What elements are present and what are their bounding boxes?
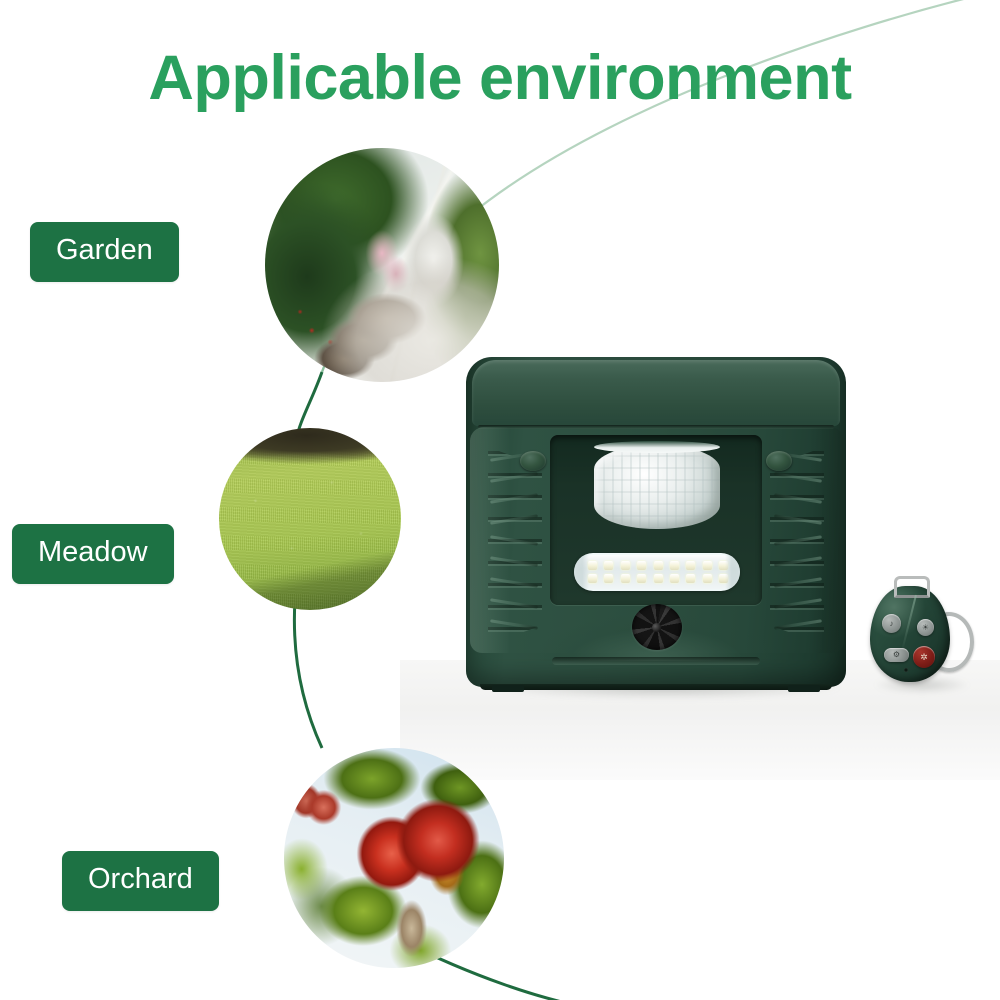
- led-strip-end-caps: [574, 553, 740, 591]
- led: [621, 574, 630, 583]
- environment-photo-orchard: [284, 748, 504, 968]
- chevron-ridge: [774, 619, 822, 629]
- led: [703, 561, 712, 570]
- device-lid-seam: [478, 425, 834, 429]
- led: [670, 574, 679, 583]
- chevron-ridge: [490, 535, 538, 545]
- remote-key-loop: [894, 576, 930, 598]
- chevron-ridge: [774, 514, 822, 524]
- chevron-ridges-right: [770, 449, 822, 639]
- corner-screw-boss-right: [766, 451, 792, 471]
- environment-label-orchard: Orchard: [62, 851, 219, 911]
- led: [604, 561, 613, 570]
- environment-label-meadow: Meadow: [12, 524, 174, 584]
- chevron-ridge: [774, 577, 822, 587]
- led: [588, 574, 597, 583]
- environment-label-garden: Garden: [30, 222, 179, 282]
- led: [670, 561, 679, 570]
- chevron-ridge: [490, 577, 538, 587]
- led: [588, 561, 597, 570]
- led-row-top: [588, 561, 728, 570]
- led: [637, 574, 646, 583]
- remote-indicator-led: [904, 668, 908, 672]
- bottom-vent-slot: [552, 657, 760, 665]
- applicable-environment-infographic: Applicable environment Garden Meadow Orc…: [0, 0, 1000, 1000]
- pir-sensor-dome-top: [594, 441, 720, 453]
- led: [719, 574, 728, 583]
- led-flash-strip: [574, 553, 740, 591]
- light-button[interactable]: ☀: [917, 619, 934, 636]
- led: [686, 561, 695, 570]
- chevron-ridge: [774, 598, 822, 608]
- chevron-ridge: [774, 556, 822, 566]
- device-top-lid: [472, 360, 840, 426]
- chevron-ridges-left: [490, 449, 542, 639]
- chevron-ridge: [490, 472, 538, 482]
- corner-screw-boss-left: [520, 451, 546, 471]
- chevron-ridge: [774, 493, 822, 503]
- sound-button[interactable]: ♪: [882, 614, 901, 633]
- remote-housing: [870, 586, 950, 682]
- chevron-ridge: [490, 514, 538, 524]
- led: [604, 574, 613, 583]
- device-base: [480, 684, 832, 690]
- led-row-bottom: [588, 574, 728, 583]
- pir-motion-sensor-dome: [594, 445, 720, 529]
- device-foot-right: [788, 685, 820, 692]
- chevron-ridge: [774, 472, 822, 482]
- led: [637, 561, 646, 570]
- led: [703, 574, 712, 583]
- led: [719, 561, 728, 570]
- product-animal-repeller: [466, 357, 846, 687]
- device-foot-left: [492, 685, 524, 692]
- led: [686, 574, 695, 583]
- connector-segment-meadow-to-orchard: [294, 600, 322, 748]
- chevron-ridge: [774, 535, 822, 545]
- key-fob-remote-control: ♪ ☀ ⚙ ✲: [866, 572, 962, 690]
- page-title: Applicable environment: [0, 42, 1000, 114]
- environment-photo-meadow: [219, 428, 401, 610]
- led: [654, 574, 663, 583]
- mode-button[interactable]: ⚙: [884, 648, 909, 662]
- led: [654, 561, 663, 570]
- chevron-ridge: [490, 619, 538, 629]
- chevron-ridge: [490, 493, 538, 503]
- chevron-ridge: [490, 598, 538, 608]
- alarm-button[interactable]: ✲: [913, 646, 935, 668]
- environment-photo-garden: [265, 148, 499, 382]
- speaker-hub: [652, 623, 661, 632]
- chevron-ridge: [490, 556, 538, 566]
- led: [621, 561, 630, 570]
